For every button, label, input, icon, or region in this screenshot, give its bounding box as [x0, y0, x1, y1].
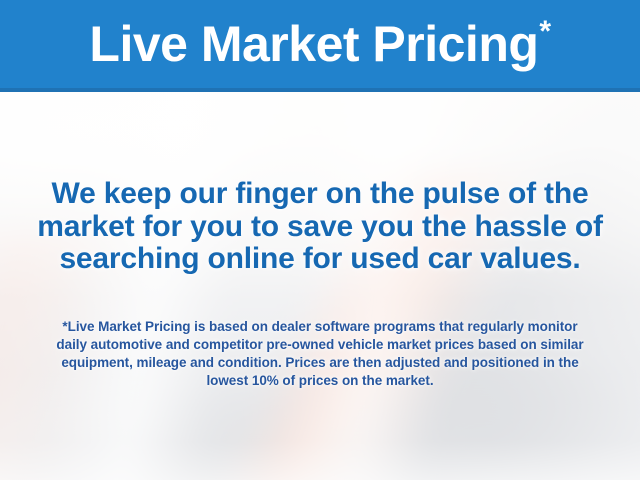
headline: We keep our finger on the pulse of the m…: [20, 178, 620, 276]
headline-line-3: searching online for used car values.: [20, 243, 620, 276]
disclaimer-line-1: *Live Market Pricing is based on dealer …: [20, 318, 620, 336]
headline-line-1: We keep our finger on the pulse of the: [20, 178, 620, 211]
header-divider-rule: [0, 88, 640, 92]
disclaimer-text: *Live Market Pricing is based on dealer …: [20, 318, 620, 390]
disclaimer-line-2: daily automotive and competitor pre-owne…: [20, 336, 620, 354]
disclaimer-line-4: lowest 10% of prices on the market.: [20, 372, 620, 390]
page-title-text: Live Market Pricing: [89, 19, 538, 69]
live-market-pricing-slide: Live Market Pricing* We keep our finger …: [0, 0, 640, 480]
headline-line-2: market for you to save you the hassle of: [20, 211, 620, 244]
page-title: Live Market Pricing*: [0, 0, 640, 88]
disclaimer-line-3: equipment, mileage and condition. Prices…: [20, 354, 620, 372]
